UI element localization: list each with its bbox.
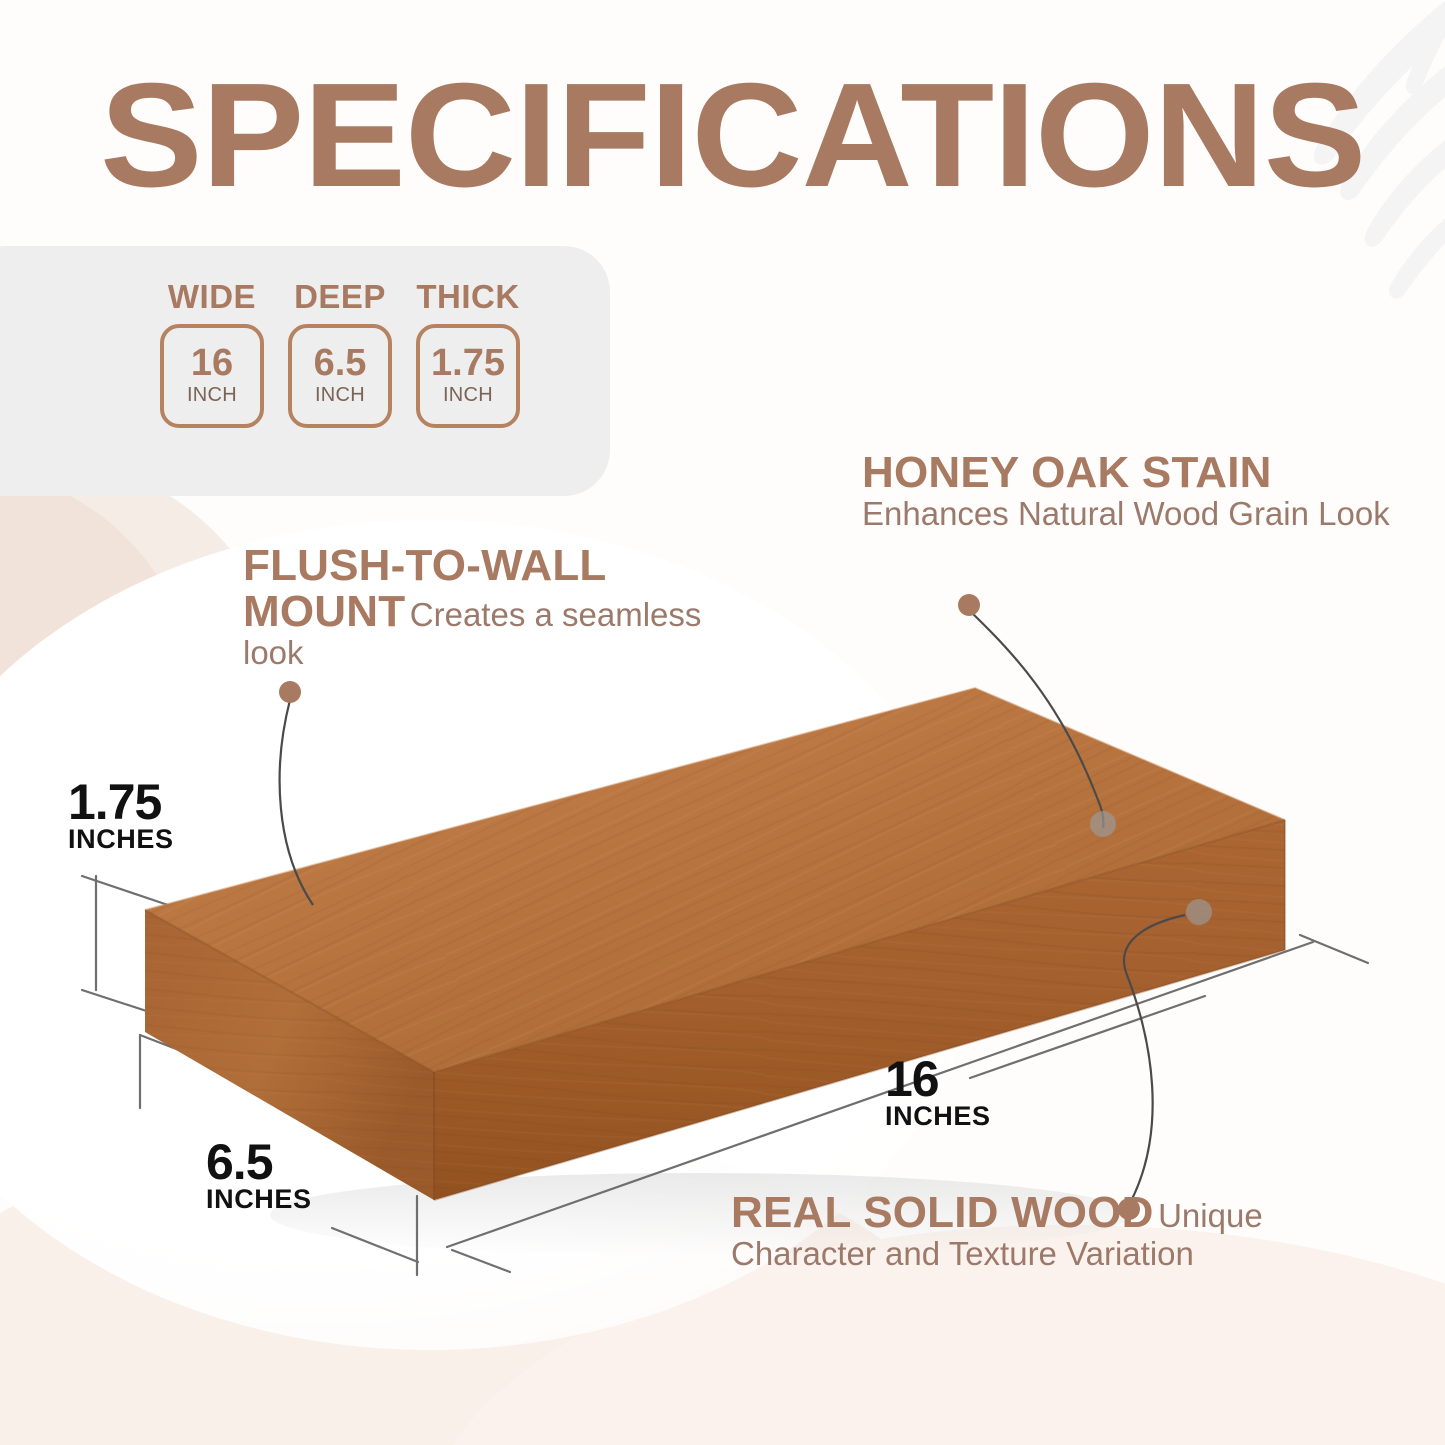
spec-value-thick: 1.75 xyxy=(431,345,505,381)
dimension-unit-thickness: INCHES xyxy=(68,826,174,853)
callout-honey-oak-stain: HONEY OAK STAIN Enhances Natural Wood Gr… xyxy=(862,450,1402,533)
flush-leader-line xyxy=(280,700,313,905)
thickness-dim-tick-top xyxy=(82,876,168,905)
spec-unit-deep: INCH xyxy=(315,384,365,407)
shelf-top-grain xyxy=(145,688,1285,1072)
spec-caption-thick: THICK xyxy=(416,278,519,316)
solid-wood-leader-line xyxy=(1124,915,1185,1203)
spec-item-thick: THICK 1.75 INCH xyxy=(416,278,520,428)
spec-box-thick: 1.75 INCH xyxy=(416,324,520,428)
depth-dim-leader-top xyxy=(140,1035,334,1110)
dimension-label-width: 16 INCHES xyxy=(885,1055,991,1130)
spec-box-deep: 6.5 INCH xyxy=(288,324,392,428)
width-dim-tick-left xyxy=(452,1250,510,1272)
spec-summary-row: WIDE 16 INCH DEEP 6.5 INCH THICK 1.75 IN… xyxy=(160,278,520,428)
page-title: SPECIFICATIONS xyxy=(100,62,1365,210)
spec-caption-deep: DEEP xyxy=(294,278,386,316)
callout-leaders xyxy=(279,594,1212,1220)
wood-shelf-block xyxy=(145,688,1285,1200)
dimension-unit-depth: INCHES xyxy=(206,1186,312,1213)
flush-leader-dot xyxy=(279,681,301,703)
specifications-infographic: SPECIFICATIONS WIDE 16 INCH DEEP 6.5 INC… xyxy=(0,0,1445,1445)
honey-leader-dot xyxy=(958,594,980,616)
shelf-front-face xyxy=(434,820,1285,1200)
dimension-label-depth: 6.5 INCHES xyxy=(206,1138,312,1213)
dimension-value-thickness: 1.75 xyxy=(68,778,174,826)
width-dim-leader-right xyxy=(970,996,1205,1078)
blush-circle-left xyxy=(0,455,290,975)
spec-item-deep: DEEP 6.5 INCH xyxy=(288,278,392,428)
spec-caption-wide: WIDE xyxy=(168,278,256,316)
callout-flush-to-wall-mount: FLUSH-TO-WALL MOUNT Creates a seamless l… xyxy=(243,543,763,671)
shelf-front-grain xyxy=(434,820,1285,1200)
callout-honey-description: Enhances Natural Wood Grain Look xyxy=(862,495,1390,532)
dimension-value-depth: 6.5 xyxy=(206,1138,312,1186)
callout-solid-title: REAL SOLID WOOD xyxy=(731,1188,1154,1237)
dimension-value-width: 16 xyxy=(885,1055,991,1103)
spec-value-wide: 16 xyxy=(191,345,233,381)
depth-dim-leader-bottom xyxy=(332,1228,418,1262)
spec-value-deep: 6.5 xyxy=(314,345,367,381)
spec-unit-thick: INCH xyxy=(443,384,493,407)
callout-real-solid-wood: REAL SOLID WOOD Unique Character and Tex… xyxy=(731,1190,1371,1273)
honey-target-dot xyxy=(1090,811,1116,837)
honey-leader-line xyxy=(971,612,1103,828)
spec-item-wide: WIDE 16 INCH xyxy=(160,278,264,428)
solid-wood-target-dot xyxy=(1186,899,1212,925)
blush-curve-bottom-left xyxy=(0,1115,1010,1445)
blush-circle-left-inner xyxy=(0,470,195,940)
dimension-unit-width: INCHES xyxy=(885,1103,991,1130)
callout-honey-title: HONEY OAK STAIN xyxy=(862,448,1272,497)
shelf-top-face xyxy=(145,688,1285,1072)
spec-box-wide: 16 INCH xyxy=(160,324,264,428)
width-dim-tick-right xyxy=(1300,935,1368,963)
thickness-dim-tick-bottom xyxy=(82,990,168,1018)
spec-unit-wide: INCH xyxy=(187,384,237,407)
dimension-label-thickness: 1.75 INCHES xyxy=(68,778,174,853)
